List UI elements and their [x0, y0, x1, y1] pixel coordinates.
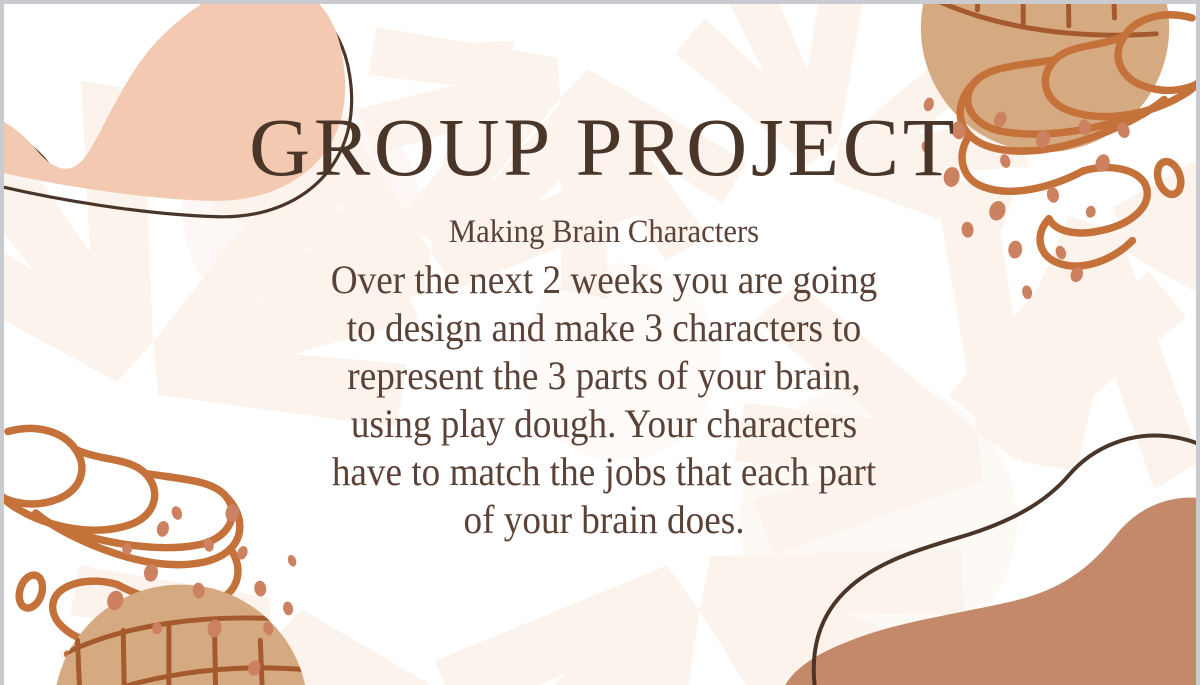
- body-line-6: of your brain does.: [279, 496, 930, 544]
- body-copy: Making Brain Characters Over the next 2 …: [279, 212, 930, 544]
- slide-text-content: GROUP PROJECT Making Brain Characters Ov…: [4, 4, 1200, 685]
- subtitle: Making Brain Characters: [279, 212, 930, 252]
- body-line-2: to design and make 3 characters to: [279, 304, 930, 352]
- body-line-3: represent the 3 parts of your brain,: [279, 352, 930, 400]
- body-line-4: using play dough. Your characters: [279, 400, 930, 448]
- body-line-1: Over the next 2 weeks you are going: [279, 256, 930, 304]
- slide-canvas: GROUP PROJECT Making Brain Characters Ov…: [0, 0, 1200, 685]
- body-line-5: have to match the jobs that each part: [279, 448, 930, 496]
- page-title: GROUP PROJECT: [250, 108, 959, 188]
